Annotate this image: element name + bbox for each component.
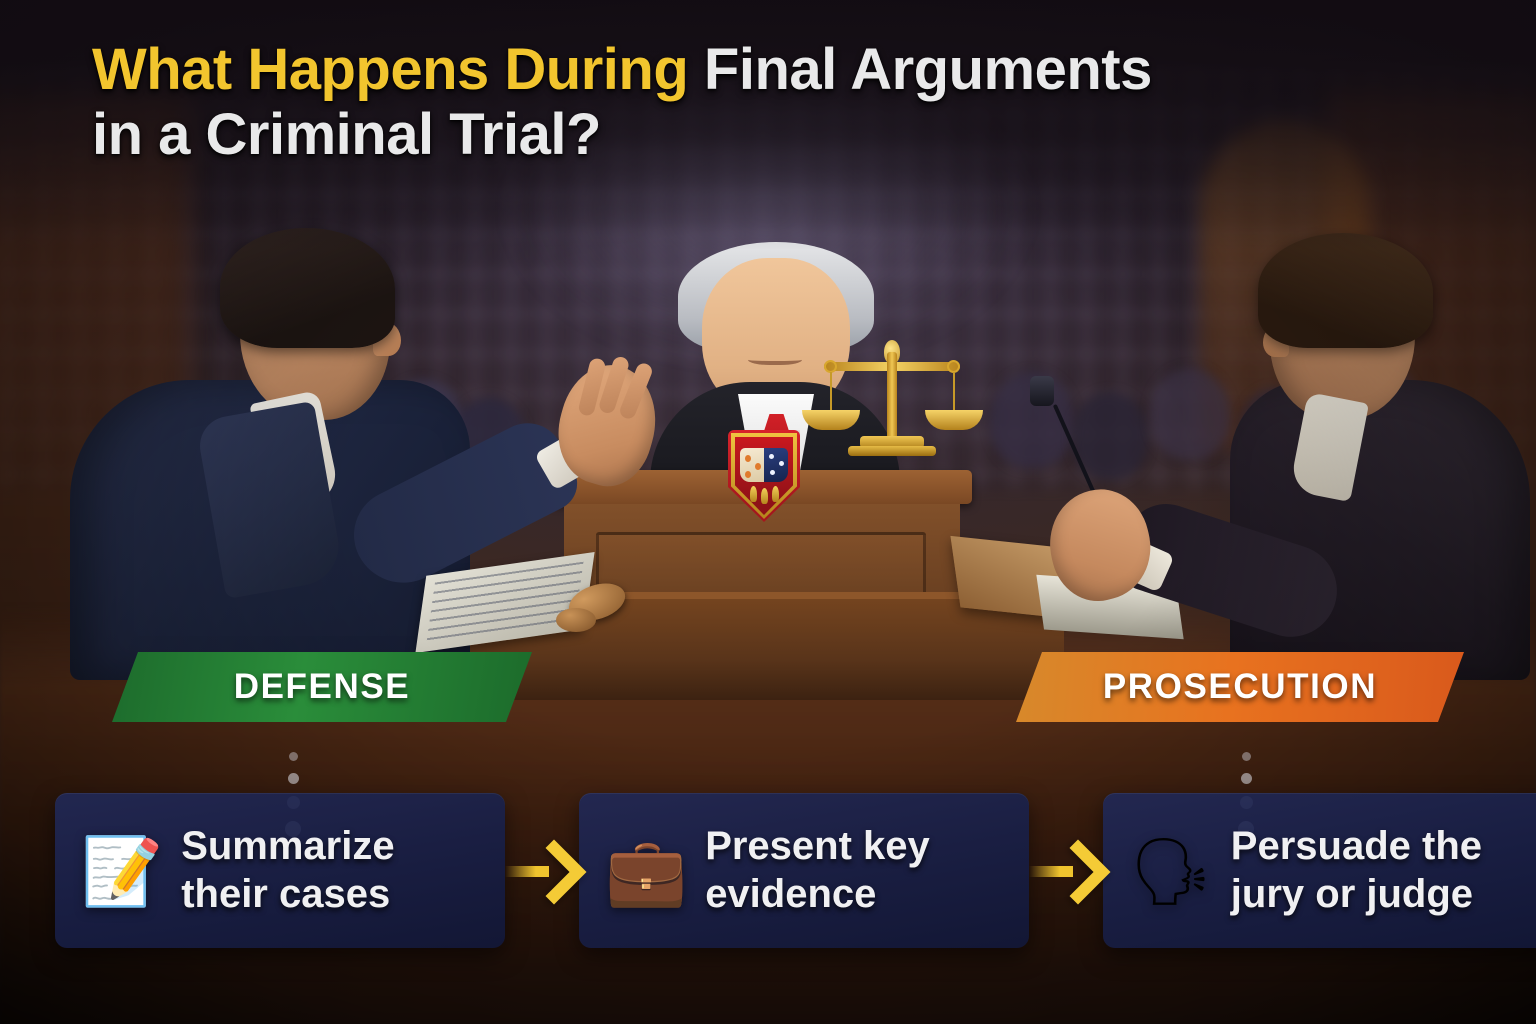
step-card-summarize-text: Summarize their cases — [181, 823, 394, 917]
banner-defense[interactable]: DEFENSE — [112, 652, 532, 722]
document-text-lines — [426, 562, 583, 644]
step-card-persuade[interactable]: 🗣 Persuade the jury or judge — [1103, 793, 1536, 948]
briefcase-icon: 💼 — [605, 838, 687, 904]
step-line-1: Summarize — [181, 823, 394, 870]
step-line-1: Present key — [705, 823, 930, 870]
prosecution-lawyer-suit — [1230, 380, 1530, 680]
prosecution-lawyer-figure — [1020, 225, 1520, 670]
arrow-right-icon — [505, 844, 579, 898]
crest-quarter-right — [764, 448, 788, 482]
crest-star — [779, 461, 784, 466]
banner-prosecution-label: PROSECUTION — [1103, 667, 1377, 707]
step-line-1: Persuade the — [1231, 823, 1482, 870]
scales-pan-left — [802, 410, 860, 430]
step-card-evidence-text: Present key evidence — [705, 823, 930, 917]
connector-dot — [1241, 773, 1252, 784]
crest-fleur — [750, 486, 757, 502]
gavel-sound-block — [556, 608, 596, 632]
arrow-right-icon — [1029, 844, 1103, 898]
step-line-2: their cases — [181, 871, 394, 918]
scales-base-plinth — [848, 446, 936, 456]
prosecution-lawyer-hair — [1258, 233, 1433, 348]
title-line1-rest: Final Arguments — [704, 37, 1152, 102]
step-card-evidence[interactable]: 💼 Present key evidence — [579, 793, 1029, 948]
scales-string-right — [953, 372, 955, 410]
scales-post — [887, 352, 897, 440]
memo-pen-icon: 📝 — [81, 838, 163, 904]
step-arrow-2 — [1029, 844, 1103, 898]
crest-charge-dot — [745, 455, 751, 462]
speaker-podium-icon: 🗣 — [1129, 838, 1213, 904]
step-line-2: evidence — [705, 871, 930, 918]
title-highlight: What Happens During — [92, 37, 688, 102]
crest-charge-dot — [755, 463, 761, 470]
title-line2: in a Criminal Trial? — [92, 102, 601, 167]
step-card-persuade-text: Persuade the jury or judge — [1231, 823, 1482, 917]
step-card-summarize[interactable]: 📝 Summarize their cases — [55, 793, 505, 948]
defense-lawyer-hair — [220, 228, 395, 348]
page-title: What Happens During Final Arguments in a… — [92, 38, 1452, 168]
crest-star — [770, 470, 775, 475]
banner-defense-label: DEFENSE — [234, 667, 411, 707]
crest-charge-dot — [745, 471, 751, 478]
banner-prosecution[interactable]: PROSECUTION — [1016, 652, 1464, 722]
process-steps: 📝 Summarize their cases 💼 Present key ev… — [55, 793, 1481, 948]
judge-mouth — [748, 352, 802, 365]
step-arrow-1 — [505, 844, 579, 898]
court-crest — [728, 430, 800, 522]
crest-star — [769, 454, 774, 459]
connector-dot — [289, 752, 298, 761]
connector-dot — [288, 773, 299, 784]
infographic-canvas: What Happens During Final Arguments in a… — [0, 0, 1536, 1024]
scales-string-left — [830, 372, 832, 410]
step-line-2: jury or judge — [1231, 871, 1482, 918]
crest-fleur — [772, 486, 779, 502]
connector-dot — [1242, 752, 1251, 761]
crest-fleur — [761, 488, 768, 504]
scales-of-justice — [818, 332, 968, 462]
